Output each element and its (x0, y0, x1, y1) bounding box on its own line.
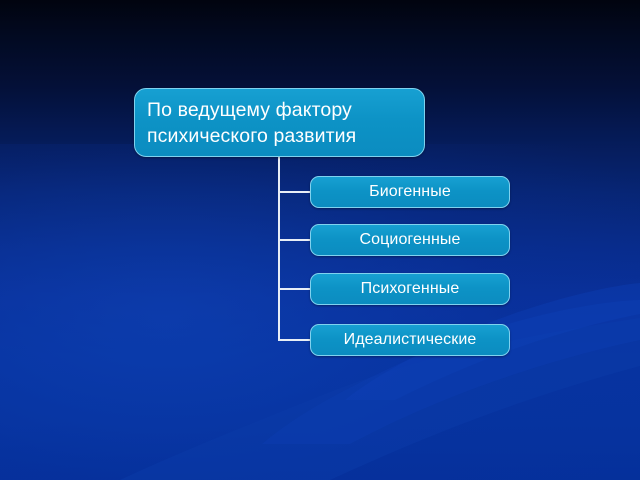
diagram-child-label: Социогенные (359, 231, 460, 249)
diagram-child-node-sotsiogennye[interactable]: Социогенные (310, 224, 510, 256)
connector-branch-3 (278, 288, 312, 290)
diagram-child-label: Идеалистические (344, 331, 477, 349)
connector-branch-2 (278, 239, 312, 241)
connector-branch-4 (278, 339, 312, 341)
diagram-child-label: Психогенные (361, 280, 460, 298)
slide-canvas: По ведущему фактору психического развити… (0, 0, 640, 480)
diagram-root-node[interactable]: По ведущему фактору психического развити… (134, 88, 425, 157)
diagram-child-node-idealisticheskie[interactable]: Идеалистические (310, 324, 510, 356)
diagram-child-node-psikhogennye[interactable]: Психогенные (310, 273, 510, 305)
diagram-root-label: По ведущему фактору психического развити… (147, 97, 356, 149)
connector-branch-1 (278, 191, 312, 193)
diagram-child-node-biogennye[interactable]: Биогенные (310, 176, 510, 208)
connector-vertical-spine (278, 157, 280, 340)
diagram-child-label: Биогенные (369, 183, 451, 201)
